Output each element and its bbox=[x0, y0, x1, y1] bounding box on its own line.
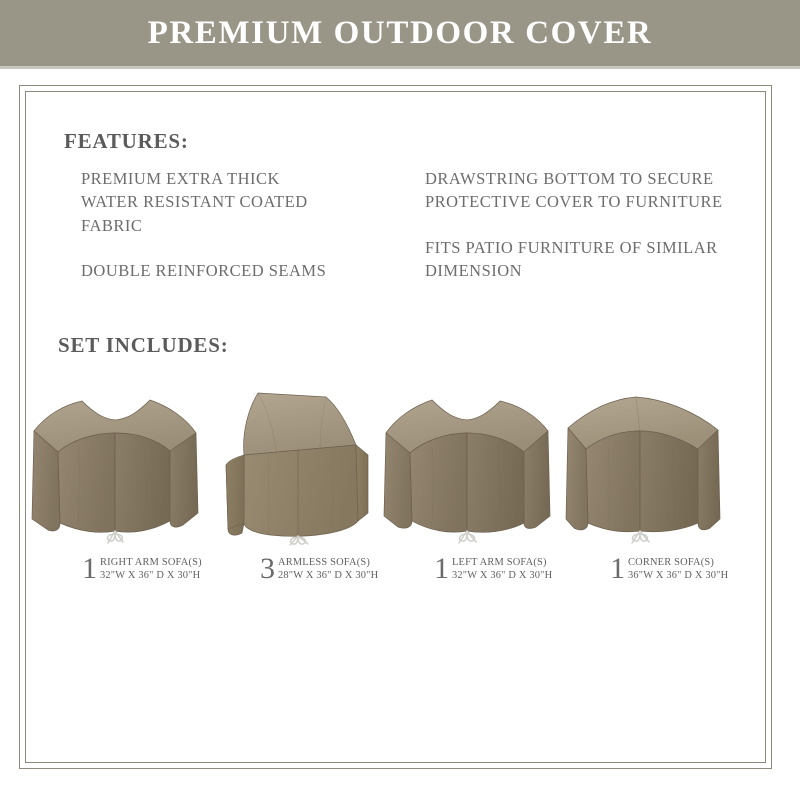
product-quantity: 1 bbox=[434, 555, 449, 583]
product-caption: 3 ARMLESS SOFA(S) 28"W X 36" D X 30"H bbox=[198, 555, 388, 583]
corner-sofa-cover-icon bbox=[548, 373, 738, 553]
product-item: 1 LEFT ARM SOFA(S) 32"W X 36" D X 30"H bbox=[372, 373, 562, 673]
feature-item: FITS PATIO FURNITURE OF SIMILAR DIMENSIO… bbox=[425, 236, 765, 283]
product-quantity: 3 bbox=[260, 555, 275, 583]
product-caption: 1 LEFT ARM SOFA(S) 32"W X 36" D X 30"H bbox=[372, 555, 562, 583]
drawstring-tie bbox=[108, 531, 123, 543]
feature-item: DRAWSTRING BOTTOM TO SECURE PROTECTIVE C… bbox=[425, 167, 765, 214]
product-name: LEFT ARM SOFA(S) bbox=[452, 557, 562, 570]
product-dimensions: 32"W X 36" D X 30"H bbox=[100, 570, 210, 583]
product-caption-text: RIGHT ARM SOFA(S) 32"W X 36" D X 30"H bbox=[100, 555, 210, 582]
drawstring-tie bbox=[290, 536, 308, 545]
content-area: FEATURES: PREMIUM EXTRA THICK WATER RESI… bbox=[0, 85, 800, 769]
product-item: 3 ARMLESS SOFA(S) 28"W X 36" D X 30"H bbox=[198, 373, 388, 673]
product-caption: 1 RIGHT ARM SOFA(S) 32"W X 36" D X 30"H bbox=[20, 555, 210, 583]
feature-item: PREMIUM EXTRA THICK WATER RESISTANT COAT… bbox=[81, 167, 421, 237]
page-title: PREMIUM OUTDOOR COVER bbox=[148, 17, 653, 50]
drawstring-tie bbox=[632, 531, 649, 543]
armless-sofa-cover-icon bbox=[198, 373, 388, 553]
feature-item: DOUBLE REINFORCED SEAMS bbox=[81, 259, 421, 282]
product-item: 1 RIGHT ARM SOFA(S) 32"W X 36" D X 30"H bbox=[20, 373, 210, 673]
set-includes-heading: SET INCLUDES: bbox=[58, 333, 228, 358]
product-caption-text: LEFT ARM SOFA(S) 32"W X 36" D X 30"H bbox=[452, 555, 562, 582]
drawstring-tie bbox=[459, 531, 476, 543]
left-arm-sofa-cover-icon bbox=[372, 373, 562, 553]
product-dimensions: 36"W X 36" D X 30"H bbox=[628, 570, 738, 583]
product-caption-text: CORNER SOFA(S) 36"W X 36" D X 30"H bbox=[628, 555, 738, 582]
set-includes-product-row: 1 RIGHT ARM SOFA(S) 32"W X 36" D X 30"H bbox=[0, 373, 800, 673]
product-name: CORNER SOFA(S) bbox=[628, 557, 738, 570]
banner-underline bbox=[0, 66, 800, 69]
product-dimensions: 32"W X 36" D X 30"H bbox=[452, 570, 562, 583]
features-column-left: PREMIUM EXTRA THICK WATER RESISTANT COAT… bbox=[81, 167, 421, 305]
features-heading: FEATURES: bbox=[64, 129, 189, 154]
features-column-right: DRAWSTRING BOTTOM TO SECURE PROTECTIVE C… bbox=[425, 167, 765, 305]
product-quantity: 1 bbox=[82, 555, 97, 583]
product-caption: 1 CORNER SOFA(S) 36"W X 36" D X 30"H bbox=[548, 555, 738, 583]
right-arm-sofa-cover-icon bbox=[20, 373, 210, 553]
product-item: 1 CORNER SOFA(S) 36"W X 36" D X 30"H bbox=[548, 373, 738, 673]
product-name: RIGHT ARM SOFA(S) bbox=[100, 557, 210, 570]
product-quantity: 1 bbox=[610, 555, 625, 583]
header-banner: PREMIUM OUTDOOR COVER bbox=[0, 0, 800, 66]
